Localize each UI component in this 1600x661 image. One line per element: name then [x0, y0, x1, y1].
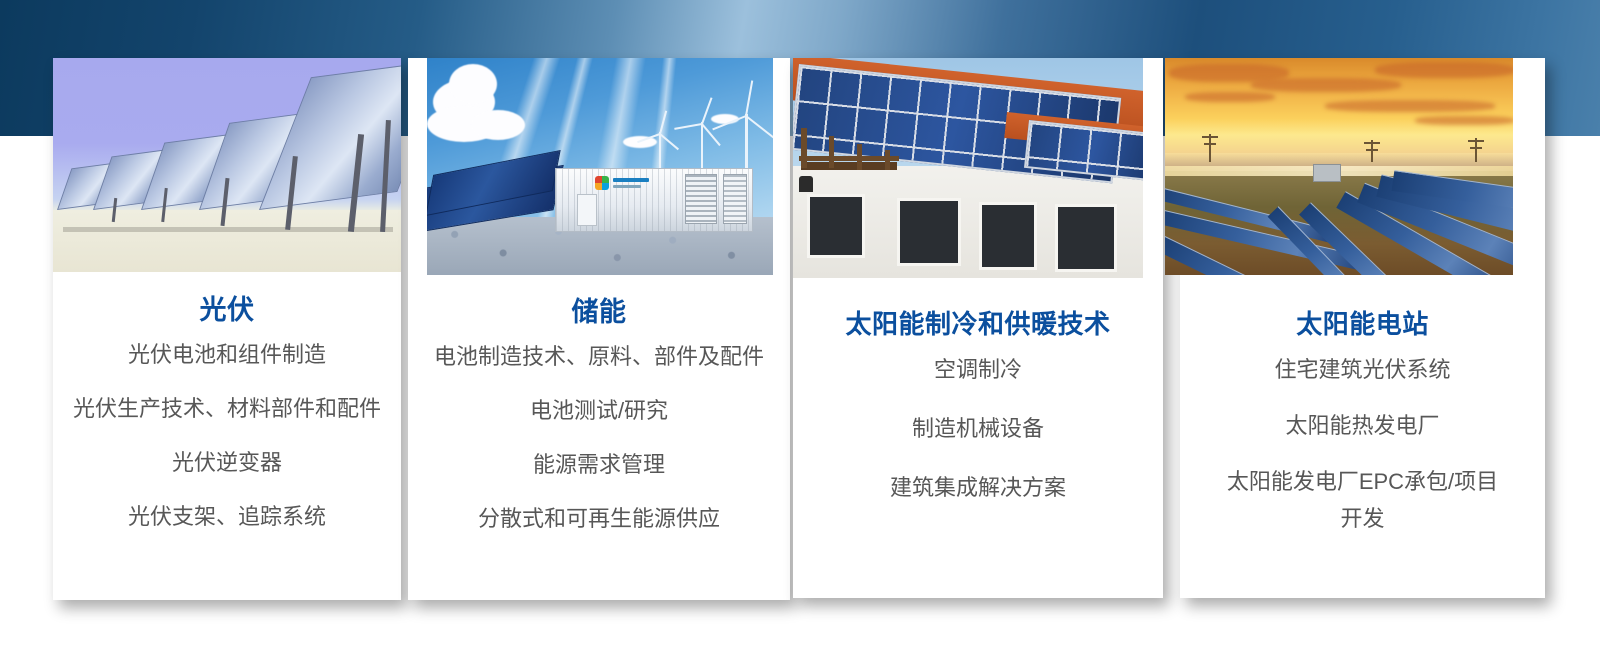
card-image-photovoltaic	[53, 58, 401, 272]
card-line: 太阳能热发电厂	[1182, 409, 1543, 442]
card-line: 电池制造技术、原料、部件及配件	[410, 340, 788, 373]
card-title: 光伏	[59, 296, 395, 326]
card-line: 制造机械设备	[797, 412, 1159, 445]
card-line: 分散式和可再生能源供应	[410, 502, 788, 535]
card-title: 太阳能制冷和供暖技术	[797, 310, 1159, 339]
card-line: 光伏支架、追踪系统	[59, 500, 395, 533]
card-title: 储能	[410, 298, 788, 328]
category-card-photovoltaic[interactable]: 光伏 光伏电池和组件制造 光伏生产技术、材料部件和配件 光伏逆变器 光伏支架、追…	[53, 58, 401, 600]
card-line: 电池测试/研究	[410, 394, 788, 427]
card-line: 住宅建筑光伏系统	[1182, 353, 1543, 386]
card-body-photovoltaic: 光伏 光伏电池和组件制造 光伏生产技术、材料部件和配件 光伏逆变器 光伏支架、追…	[53, 296, 401, 554]
card-image-energy-storage	[427, 58, 773, 275]
category-card-deck: 光伏 光伏电池和组件制造 光伏生产技术、材料部件和配件 光伏逆变器 光伏支架、追…	[0, 0, 1600, 661]
card-title: 太阳能电站	[1182, 310, 1543, 339]
category-card-solar-cooling-heating[interactable]: 太阳能制冷和供暖技术 空调制冷 制造机械设备 建筑集成解决方案	[793, 58, 1163, 598]
card-body-solar-cooling-heating: 太阳能制冷和供暖技术 空调制冷 制造机械设备 建筑集成解决方案	[793, 310, 1163, 530]
card-line: 建筑集成解决方案	[797, 471, 1159, 504]
card-line: 光伏逆变器	[59, 446, 395, 479]
card-line: 光伏生产技术、材料部件和配件	[59, 392, 395, 425]
card-line: 开发	[1182, 502, 1543, 535]
category-card-solar-power-plant[interactable]: 太阳能电站 住宅建筑光伏系统 太阳能热发电厂 太阳能发电厂EPC承包/项目 开发	[1180, 58, 1545, 598]
card-line: 空调制冷	[797, 353, 1159, 386]
card-body-solar-power-plant: 太阳能电站 住宅建筑光伏系统 太阳能热发电厂 太阳能发电厂EPC承包/项目 开发	[1180, 310, 1545, 558]
card-body-energy-storage: 储能 电池制造技术、原料、部件及配件 电池测试/研究 能源需求管理 分散式和可再…	[408, 298, 790, 556]
card-line: 能源需求管理	[410, 448, 788, 481]
card-image-solar-cooling-heating	[793, 58, 1143, 278]
card-image-solar-power-plant	[1165, 58, 1513, 275]
category-card-energy-storage[interactable]: 储能 电池制造技术、原料、部件及配件 电池测试/研究 能源需求管理 分散式和可再…	[408, 58, 790, 600]
card-line: 光伏电池和组件制造	[59, 338, 395, 371]
card-line: 太阳能发电厂EPC承包/项目	[1182, 465, 1543, 498]
